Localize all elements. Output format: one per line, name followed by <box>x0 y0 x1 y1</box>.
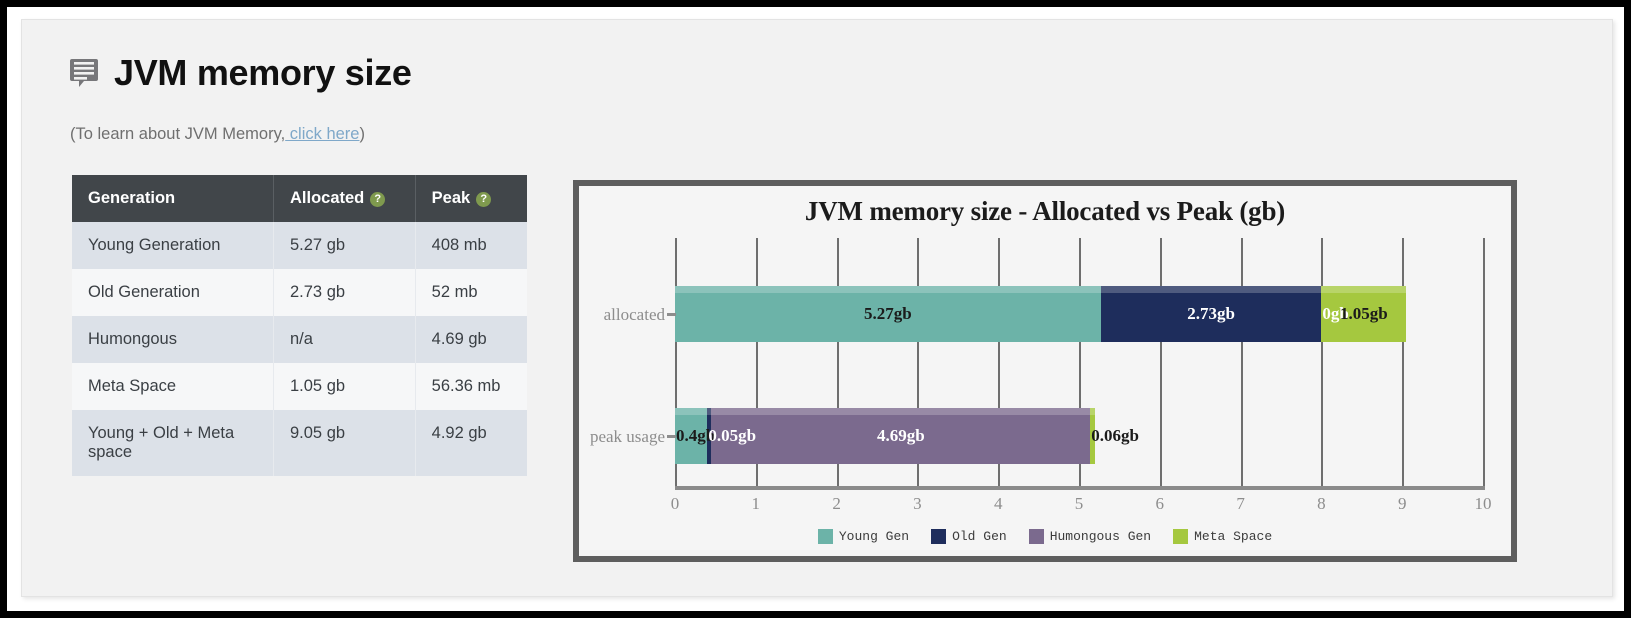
help-icon-allocated[interactable]: ? <box>370 192 385 207</box>
jvm-memory-table: Generation Allocated? Peak? Young Genera… <box>72 175 527 476</box>
x-tick-label: 8 <box>1317 494 1326 514</box>
table-row: Young Generation 5.27 gb 408 mb <box>72 222 527 269</box>
chart-legend: Young GenOld GenHumongous GenMeta Space <box>579 529 1511 544</box>
cell-peak: 408 mb <box>415 222 527 269</box>
column-header-generation[interactable]: Generation <box>72 175 274 222</box>
page-title-text: JVM memory size <box>114 52 412 94</box>
x-tick-label: 10 <box>1475 494 1492 514</box>
cell-allocated: 1.05 gb <box>274 363 416 410</box>
help-icon-peak[interactable]: ? <box>476 192 491 207</box>
x-axis-line <box>675 486 1485 490</box>
legend-label: Humongous Gen <box>1050 529 1151 544</box>
column-header-peak[interactable]: Peak? <box>415 175 527 222</box>
table-row: Young + Old + Meta space 9.05 gb 4.92 gb <box>72 410 527 476</box>
x-tick-label: 6 <box>1156 494 1165 514</box>
content-panel: JVM memory size (To learn about JVM Memo… <box>21 19 1613 597</box>
bar-segment[interactable]: 0.4gb <box>675 408 707 464</box>
category-label: peak usage <box>579 427 665 447</box>
legend-item[interactable]: Old Gen <box>931 529 1007 544</box>
bar-segment-label: 4.69gb <box>877 426 925 446</box>
cell-generation: Young + Old + Meta space <box>72 410 274 476</box>
page-title: JVM memory size <box>70 52 412 94</box>
x-tick-label: 5 <box>1075 494 1084 514</box>
x-tick-label: 1 <box>752 494 761 514</box>
bar-segment[interactable]: 5.27gb <box>675 286 1101 342</box>
cell-allocated: n/a <box>274 316 416 363</box>
x-tick-label: 7 <box>1236 494 1245 514</box>
column-header-peak-label: Peak <box>432 189 471 207</box>
x-tick-label: 3 <box>913 494 922 514</box>
jvm-memory-chart: JVM memory size - Allocated vs Peak (gb)… <box>573 180 1517 562</box>
cell-generation: Old Generation <box>72 269 274 316</box>
cell-peak: 4.92 gb <box>415 410 527 476</box>
legend-swatch <box>818 529 833 544</box>
bar-segment-highlight <box>1090 408 1095 415</box>
category-tick <box>667 435 676 438</box>
column-header-allocated-label: Allocated <box>290 189 364 207</box>
page-frame: JVM memory size (To learn about JVM Memo… <box>0 0 1631 618</box>
cell-peak: 56.36 mb <box>415 363 527 410</box>
table-row: Old Generation 2.73 gb 52 mb <box>72 269 527 316</box>
cell-peak: 4.69 gb <box>415 316 527 363</box>
bar-segment-highlight <box>1101 286 1322 293</box>
learn-more-link[interactable]: click here <box>285 125 359 143</box>
bar-segment-highlight <box>711 408 1090 415</box>
x-tick-label: 2 <box>832 494 841 514</box>
legend-swatch <box>931 529 946 544</box>
category-label: allocated <box>579 305 665 325</box>
x-tick-label: 4 <box>994 494 1003 514</box>
legend-swatch <box>1029 529 1044 544</box>
legend-label: Meta Space <box>1194 529 1272 544</box>
bar-segment[interactable]: 4.69gb <box>711 408 1090 464</box>
document-lines-icon <box>70 57 100 89</box>
bar-segment-label: 2.73gb <box>1187 304 1235 324</box>
cell-allocated: 2.73 gb <box>274 269 416 316</box>
legend-label: Young Gen <box>839 529 909 544</box>
chart-title: JVM memory size - Allocated vs Peak (gb) <box>579 196 1511 227</box>
bar-segment-label: 1.05gb <box>1340 304 1388 324</box>
subtitle: (To learn about JVM Memory, click here) <box>70 125 365 144</box>
legend-label: Old Gen <box>952 529 1007 544</box>
bar-row: 5.27gb2.73gb0gb1.05gb <box>675 286 1483 342</box>
grid-line <box>1483 238 1485 486</box>
legend-item[interactable]: Meta Space <box>1173 529 1272 544</box>
legend-item[interactable]: Humongous Gen <box>1029 529 1151 544</box>
subtitle-prefix: (To learn about JVM Memory, <box>70 125 285 143</box>
cell-generation: Young Generation <box>72 222 274 269</box>
cell-allocated: 9.05 gb <box>274 410 416 476</box>
table-header-row: Generation Allocated? Peak? <box>72 175 527 222</box>
bar-segment-highlight <box>1321 286 1406 293</box>
legend-item[interactable]: Young Gen <box>818 529 909 544</box>
chart-plot-area: 5.27gb2.73gb0gb1.05gb0.4gb0.05gb4.69gb0.… <box>675 238 1483 486</box>
bar-segment[interactable]: 0.06gb <box>1090 408 1095 464</box>
bar-segment-label: 5.27gb <box>864 304 912 324</box>
cell-peak: 52 mb <box>415 269 527 316</box>
table-row: Meta Space 1.05 gb 56.36 mb <box>72 363 527 410</box>
column-header-allocated[interactable]: Allocated? <box>274 175 416 222</box>
cell-generation: Meta Space <box>72 363 274 410</box>
bar-row: 0.4gb0.05gb4.69gb0.06gb <box>675 408 1483 464</box>
column-header-generation-label: Generation <box>88 189 175 207</box>
cell-allocated: 5.27 gb <box>274 222 416 269</box>
bar-segment-highlight <box>675 408 707 415</box>
subtitle-suffix: ) <box>359 125 365 143</box>
bar-segment[interactable]: 2.73gb <box>1101 286 1322 342</box>
cell-generation: Humongous <box>72 316 274 363</box>
legend-swatch <box>1173 529 1188 544</box>
x-tick-label: 0 <box>671 494 680 514</box>
bar-segment-highlight <box>675 286 1101 293</box>
table-row: Humongous n/a 4.69 gb <box>72 316 527 363</box>
category-tick <box>667 313 676 316</box>
bar-segment-label: 0.05gb <box>708 426 756 446</box>
x-tick-label: 9 <box>1398 494 1407 514</box>
bar-segment-label: 0.06gb <box>1091 426 1139 446</box>
